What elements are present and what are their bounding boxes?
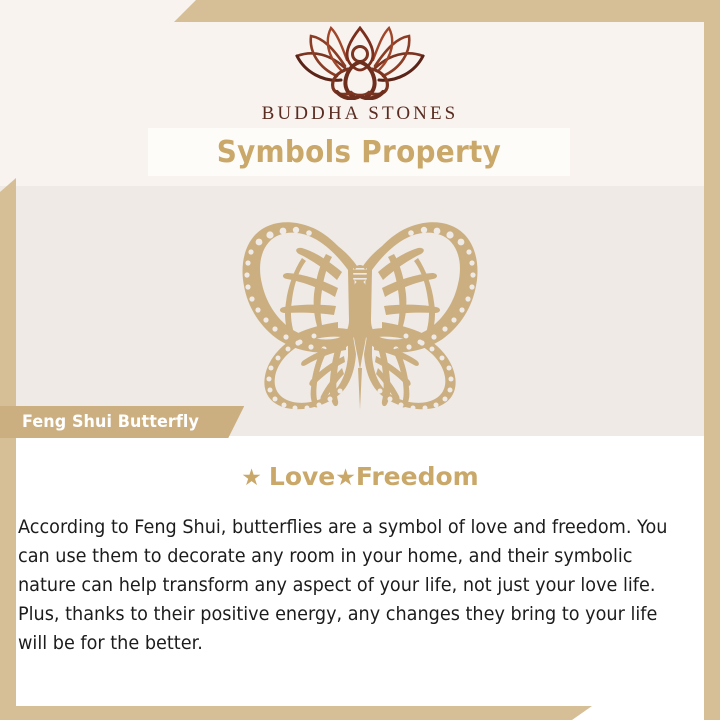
lotus-meditation-icon: [285, 26, 435, 100]
heading-word-love: Love: [269, 462, 335, 491]
brand-name: BUDDHA STONES: [0, 103, 720, 125]
star-icon-middle: ★: [335, 465, 356, 491]
love-freedom-heading: ★Love★Freedom: [0, 462, 720, 491]
star-icon-left: ★: [241, 465, 262, 491]
badge-label: Feng Shui Butterfly: [22, 412, 199, 432]
title-banner: Symbols Property: [148, 128, 570, 176]
heading-word-freedom: Freedom: [356, 462, 479, 491]
page-title: Symbols Property: [217, 135, 501, 170]
product-infographic-page: BUDDHA STONES Symbols Property: [0, 0, 720, 720]
description-paragraph: According to Feng Shui, butterflies are …: [18, 513, 682, 658]
feng-shui-butterfly-badge: Feng Shui Butterfly: [0, 406, 244, 438]
butterfly-icon: [210, 218, 510, 410]
brand-logo: BUDDHA STONES: [0, 26, 720, 125]
butterfly-illustration: [210, 218, 510, 410]
frame-accent-left: [0, 178, 16, 720]
